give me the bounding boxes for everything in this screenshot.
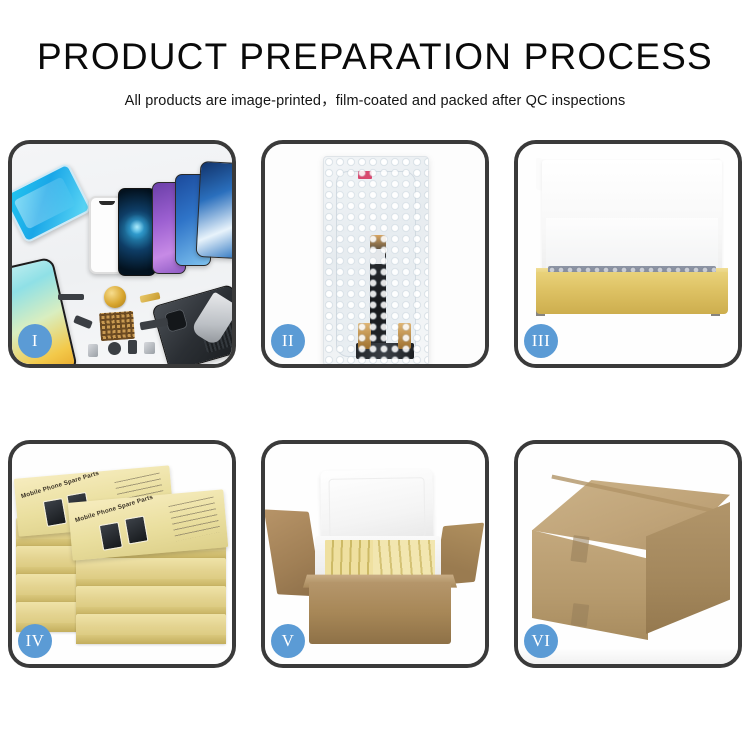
step-panel-6[interactable]: VI xyxy=(514,440,742,668)
page-header: PRODUCT PREPARATION PROCESS All products… xyxy=(0,0,750,110)
step-panel-4[interactable]: Mobile Phone Spare Parts Mobile Phone Sp… xyxy=(8,440,236,668)
component-cable-left xyxy=(73,315,93,329)
step-badge-1: I xyxy=(18,324,52,358)
box-tray-yellow xyxy=(536,272,728,314)
process-step-grid: I II xyxy=(8,140,742,668)
flex-screen-cyan xyxy=(12,162,92,244)
page-title: PRODUCT PREPARATION PROCESS xyxy=(0,38,750,75)
component-camera xyxy=(108,342,121,355)
qc-sticker xyxy=(358,171,372,179)
step-panel-1[interactable]: I xyxy=(8,140,236,368)
flex-connector-pad xyxy=(370,249,385,264)
step-badge-2: II xyxy=(271,324,305,358)
carton-tape-lower xyxy=(571,603,590,627)
step-panel-5[interactable]: V xyxy=(261,440,489,668)
carton-tape-upper xyxy=(570,535,589,563)
connector-left xyxy=(358,323,371,349)
step-badge-3: III xyxy=(524,324,558,358)
process-row-bottom: Mobile Phone Spare Parts Mobile Phone Sp… xyxy=(8,440,742,668)
component-button xyxy=(128,340,137,354)
process-row-top: I II xyxy=(8,140,742,368)
logic-board-component xyxy=(99,311,135,341)
bubble-wrap-bag xyxy=(323,156,429,364)
step-panel-2[interactable]: II xyxy=(261,140,489,368)
phone-display-swoosh xyxy=(196,161,232,259)
component-sim-tray xyxy=(88,344,98,357)
speaker-component-gold xyxy=(104,286,126,308)
carton-body xyxy=(309,582,451,644)
phone-display-blue xyxy=(118,188,156,276)
connector-right xyxy=(398,323,411,349)
page-subtitle: All products are image-printed，film-coat… xyxy=(0,89,750,110)
component-gold-clip xyxy=(139,292,160,303)
box-label-rear: Mobile Phone Spare Parts xyxy=(20,470,100,500)
step-badge-6: VI xyxy=(524,624,558,658)
step-badge-5: V xyxy=(271,624,305,658)
component-bracket xyxy=(144,342,155,354)
product-preparation-page: PRODUCT PREPARATION PROCESS All products… xyxy=(0,0,750,750)
yellow-boxes-inside-secondary xyxy=(373,540,435,578)
component-bar xyxy=(58,294,84,300)
step-panel-3[interactable]: III xyxy=(514,140,742,368)
step-badge-4: IV xyxy=(18,624,52,658)
